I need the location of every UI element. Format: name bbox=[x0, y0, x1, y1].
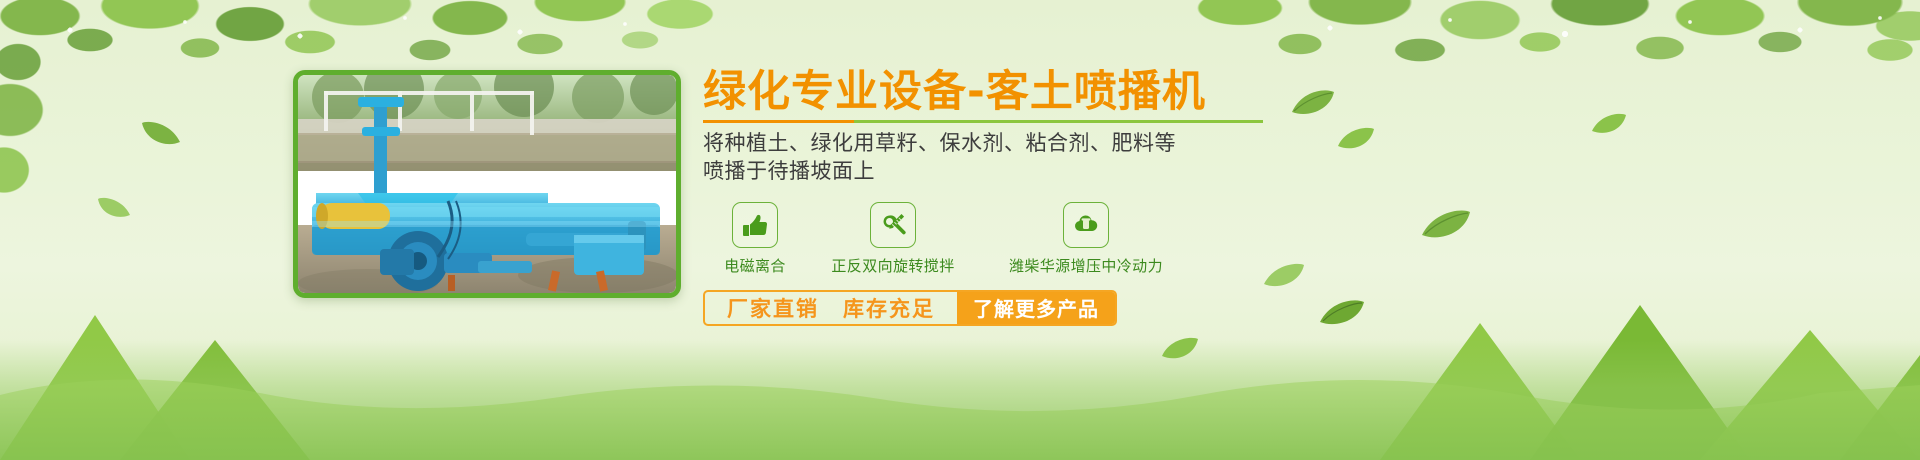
product-photo-frame bbox=[293, 70, 681, 298]
wrench-screwdriver-icon bbox=[879, 211, 907, 239]
feature-label: 电磁离合 bbox=[703, 255, 807, 276]
thumbs-up-icon bbox=[741, 211, 769, 239]
engine-power-icon bbox=[1072, 211, 1100, 239]
feature-icon-box bbox=[870, 202, 916, 248]
feature-label: 正反双向旋转搅拌 bbox=[807, 255, 979, 276]
feature-icon-box bbox=[732, 202, 778, 248]
subtitle-line-2: 喷播于待播坡面上 bbox=[703, 158, 1403, 186]
feature-label: 潍柴华源增压中冷动力 bbox=[979, 255, 1193, 276]
subtitle-line-1: 将种植土、绿化用草籽、保水剂、粘合剂、肥料等 bbox=[703, 130, 1403, 158]
banner-subtitle: 将种植土、绿化用草籽、保水剂、粘合剂、肥料等 喷播于待播坡面上 bbox=[703, 130, 1403, 185]
feature-item-weichai-power[interactable]: 潍柴华源增压中冷动力 bbox=[979, 202, 1193, 276]
banner-title: 绿化专业设备-客土喷播机 bbox=[703, 68, 1403, 116]
leaf-icon bbox=[96, 196, 132, 220]
leaf-icon bbox=[1160, 336, 1200, 362]
leaf-icon bbox=[1420, 208, 1472, 242]
banner-content: 绿化专业设备-客土喷播机 将种植土、绿化用草籽、保水剂、粘合剂、肥料等 喷播于待… bbox=[703, 68, 1403, 326]
cta-tag-factory-direct: 厂家直销 bbox=[727, 293, 819, 323]
cta-tag-stock-ample: 库存充足 bbox=[843, 293, 935, 323]
feature-item-bidirectional-mixing[interactable]: 正反双向旋转搅拌 bbox=[807, 202, 979, 276]
leaf-icon bbox=[140, 120, 182, 148]
feature-item-electromagnetic-clutch[interactable]: 电磁离合 bbox=[703, 202, 807, 276]
title-divider bbox=[703, 120, 1263, 123]
promo-banner: 绿化专业设备-客土喷播机 将种植土、绿化用草籽、保水剂、粘合剂、肥料等 喷播于待… bbox=[0, 0, 1920, 460]
cta-tagline-group: 厂家直销 库存充足 bbox=[705, 292, 957, 324]
leaf-icon bbox=[1590, 112, 1628, 136]
grass-decoration bbox=[0, 340, 1920, 460]
feature-list: 电磁离合 正反双向旋转搅拌 bbox=[703, 202, 1403, 276]
feature-icon-box bbox=[1063, 202, 1109, 248]
learn-more-button[interactable]: 了解更多产品 bbox=[957, 292, 1115, 324]
cta-bar: 厂家直销 库存充足 了解更多产品 bbox=[703, 290, 1117, 326]
product-photo bbox=[298, 75, 676, 293]
